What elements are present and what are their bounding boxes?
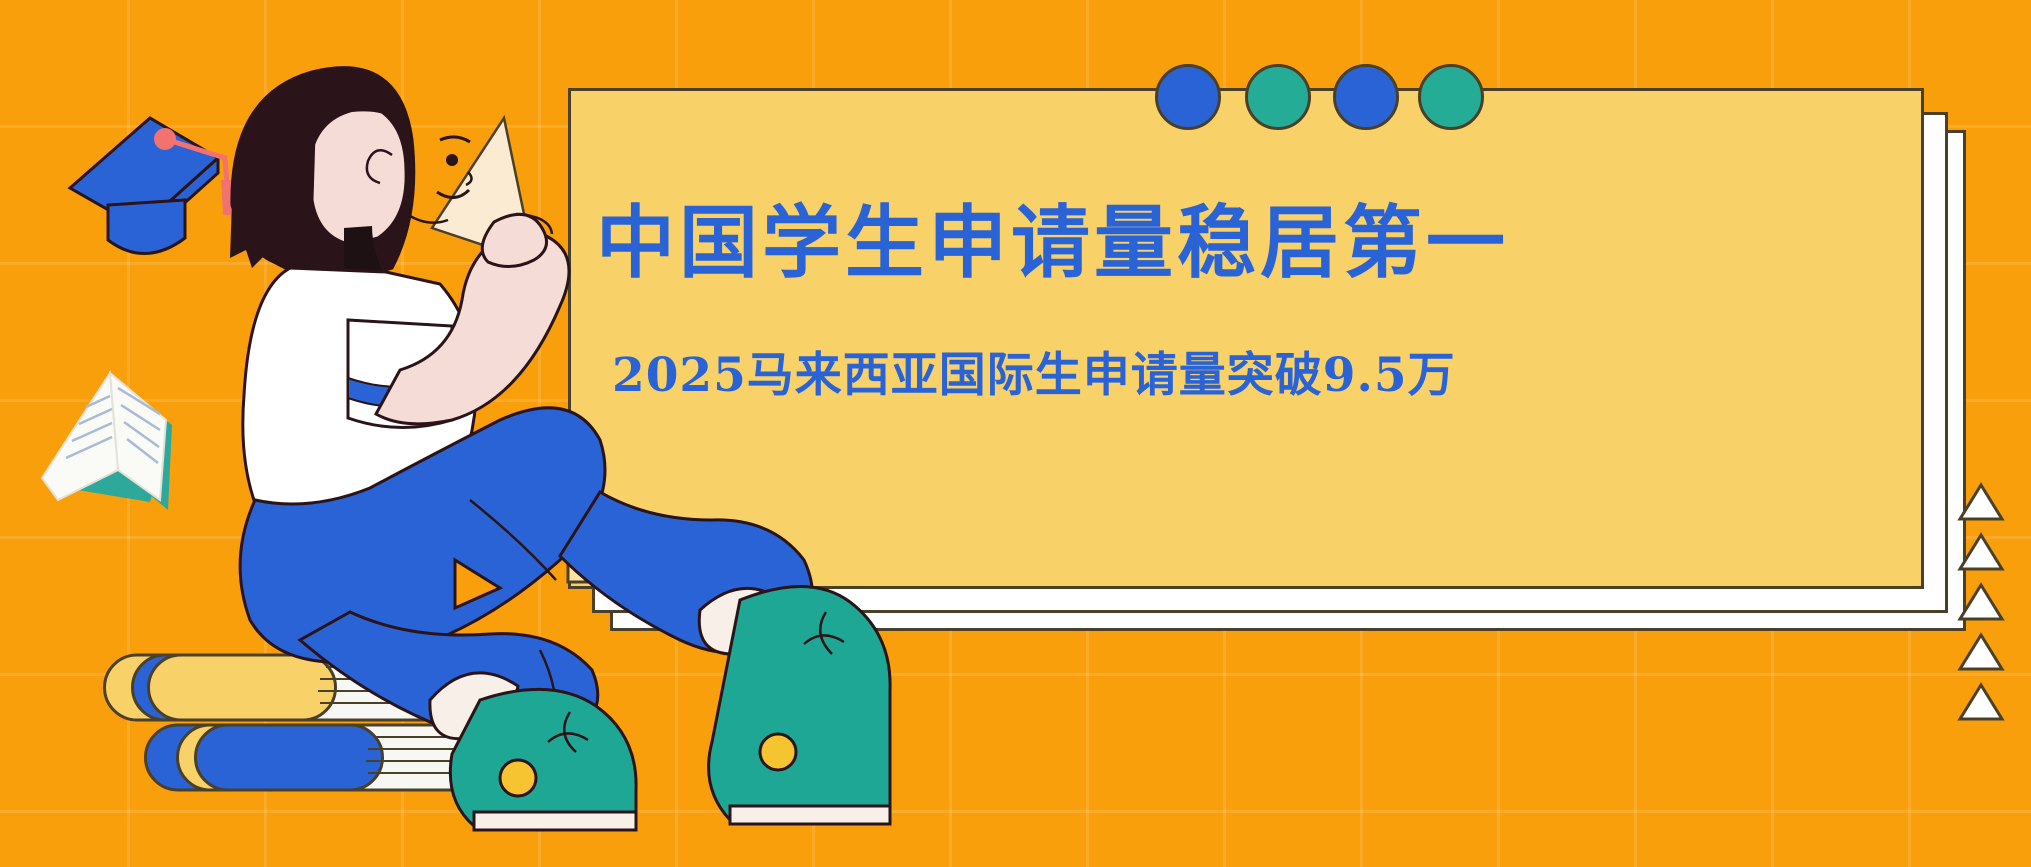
banner-canvas: 中国学生申请量稳居第一 2025马来西亚国际生申请量突破9.5万 (0, 0, 2031, 867)
decor-triangle-5 (1957, 682, 2005, 722)
decor-triangle-4 (1957, 632, 2005, 672)
sneaker-right (709, 586, 891, 824)
decor-triangle-group (1957, 482, 2005, 732)
decor-dot-blue-1 (1155, 64, 1221, 130)
decor-dot-teal-2 (1418, 64, 1484, 130)
student-illustration (0, 0, 900, 867)
decor-dot-blue-2 (1333, 64, 1399, 130)
decor-dot-teal-1 (1245, 64, 1311, 130)
sneaker-left (450, 689, 636, 830)
decor-triangle-1 (1957, 482, 2005, 522)
decor-triangle-2 (1957, 532, 2005, 572)
graduation-cap-icon (70, 118, 233, 254)
open-book-icon (42, 373, 172, 510)
decor-triangle-3 (1957, 582, 2005, 622)
